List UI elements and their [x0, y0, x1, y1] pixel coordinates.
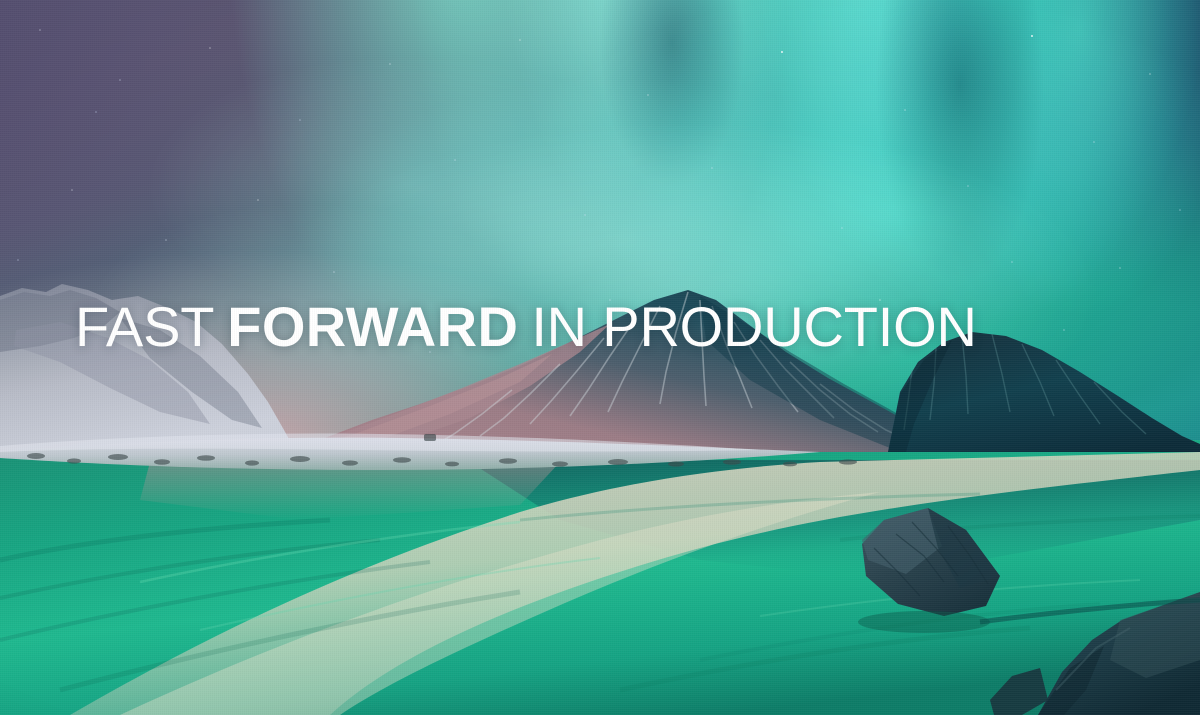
headline-part-fast: FAST: [75, 295, 214, 358]
headline-part-forward: FORWARD: [227, 295, 518, 358]
page-title: FASTFORWARDIN PRODUCTION: [75, 299, 977, 355]
hero-banner: FASTFORWARDIN PRODUCTION: [0, 0, 1200, 715]
headline-part-in-production: IN PRODUCTION: [531, 295, 976, 358]
